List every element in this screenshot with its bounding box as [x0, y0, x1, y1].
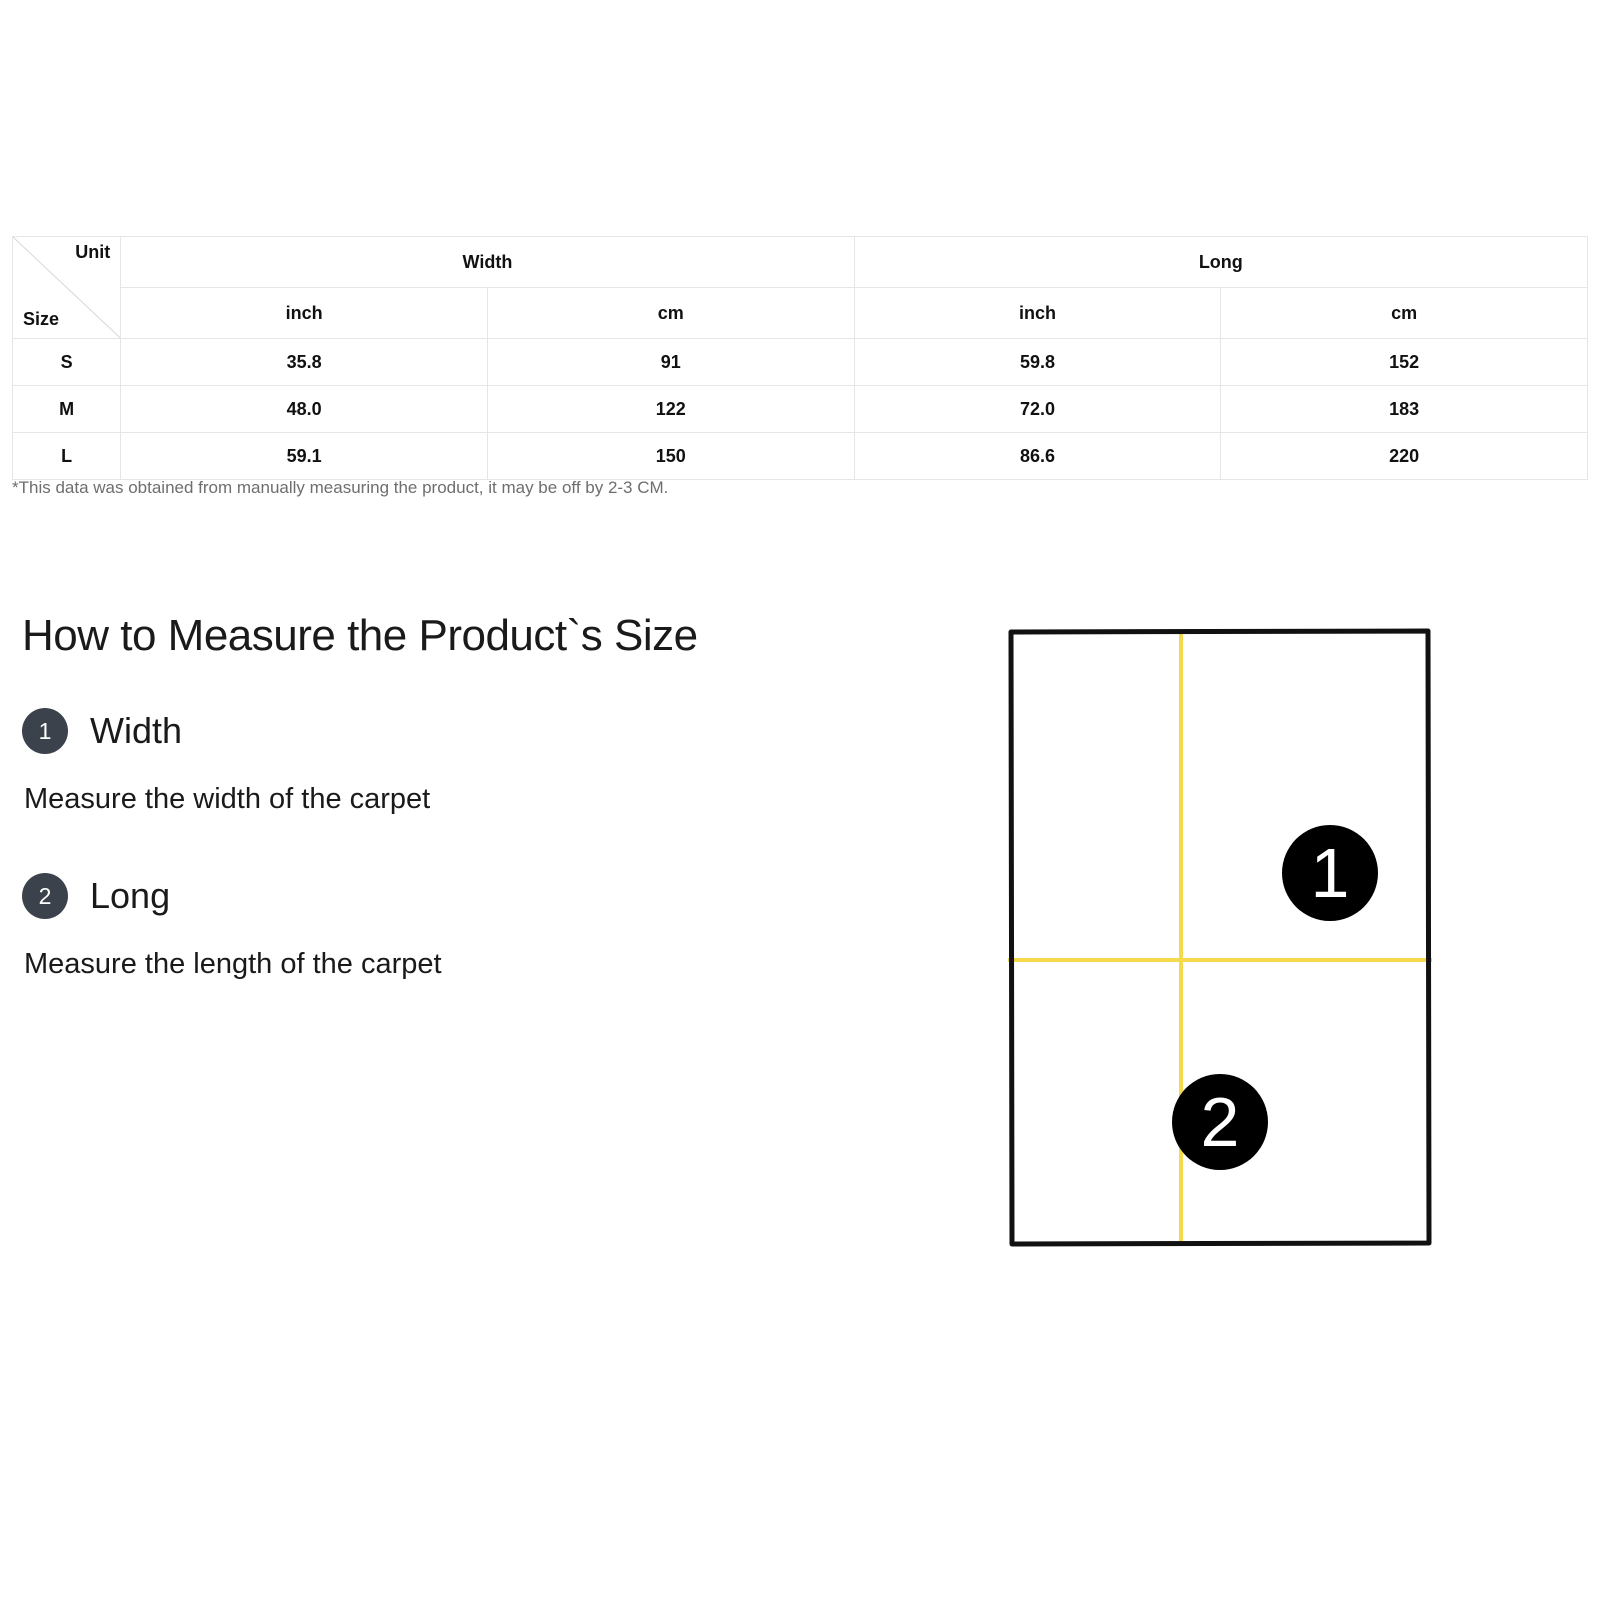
- cell-width-cm: 91: [487, 339, 854, 386]
- cell-size: L: [13, 433, 121, 480]
- sub-header-long-cm: cm: [1221, 288, 1588, 339]
- measure-step-1: 1 Width: [22, 708, 882, 754]
- how-to-measure-title: How to Measure the Product`s Size: [22, 612, 882, 660]
- table-header-unit-row: inch cm inch cm: [13, 288, 1588, 339]
- diagram-badge-2-number: 2: [1201, 1083, 1240, 1161]
- cell-size: M: [13, 386, 121, 433]
- carpet-measurement-diagram: 1 2: [1000, 620, 1440, 1255]
- cell-width-inch: 59.1: [121, 433, 488, 480]
- cell-width-inch: 35.8: [121, 339, 488, 386]
- table-row: S 35.8 91 59.8 152: [13, 339, 1588, 386]
- carpet-diagram-svg: 1 2: [1000, 620, 1440, 1255]
- cell-long-cm: 152: [1221, 339, 1588, 386]
- measurement-disclaimer: *This data was obtained from manually me…: [12, 478, 668, 498]
- unit-label: Unit: [75, 243, 110, 261]
- cell-width-cm: 122: [487, 386, 854, 433]
- step-number-badge-1: 1: [22, 708, 68, 754]
- cell-long-inch: 72.0: [854, 386, 1221, 433]
- cell-long-inch: 59.8: [854, 339, 1221, 386]
- cell-long-cm: 220: [1221, 433, 1588, 480]
- diagram-badge-2: 2: [1172, 1074, 1268, 1170]
- sub-header-long-inch: inch: [854, 288, 1221, 339]
- cell-size: S: [13, 339, 121, 386]
- table-head: Unit Size Width Long inch cm inch cm: [13, 237, 1588, 339]
- cell-width-cm: 150: [487, 433, 854, 480]
- corner-unit-size-cell: Unit Size: [13, 237, 121, 339]
- how-to-measure-section: How to Measure the Product`s Size 1 Widt…: [22, 612, 882, 982]
- table-row: M 48.0 122 72.0 183: [13, 386, 1588, 433]
- cell-long-cm: 183: [1221, 386, 1588, 433]
- step-description-long: Measure the length of the carpet: [24, 947, 882, 982]
- diagram-badge-1: 1: [1282, 825, 1378, 921]
- group-header-long: Long: [854, 237, 1587, 288]
- step-number-badge-2: 2: [22, 873, 68, 919]
- step-label-long: Long: [90, 878, 170, 914]
- sub-header-width-cm: cm: [487, 288, 854, 339]
- size-label: Size: [23, 310, 59, 328]
- size-chart-table-container: Unit Size Width Long inch cm inch cm S 3…: [12, 236, 1588, 480]
- table-body: S 35.8 91 59.8 152 M 48.0 122 72.0 183 L…: [13, 339, 1588, 480]
- group-header-width: Width: [121, 237, 854, 288]
- step-description-width: Measure the width of the carpet: [24, 782, 882, 817]
- measure-step-2: 2 Long: [22, 873, 882, 919]
- cell-long-inch: 86.6: [854, 433, 1221, 480]
- diagram-badge-1-number: 1: [1311, 834, 1350, 912]
- table-header-group-row: Unit Size Width Long: [13, 237, 1588, 288]
- cell-width-inch: 48.0: [121, 386, 488, 433]
- sub-header-width-inch: inch: [121, 288, 488, 339]
- size-chart-table: Unit Size Width Long inch cm inch cm S 3…: [12, 236, 1588, 480]
- table-row: L 59.1 150 86.6 220: [13, 433, 1588, 480]
- step-label-width: Width: [90, 713, 182, 749]
